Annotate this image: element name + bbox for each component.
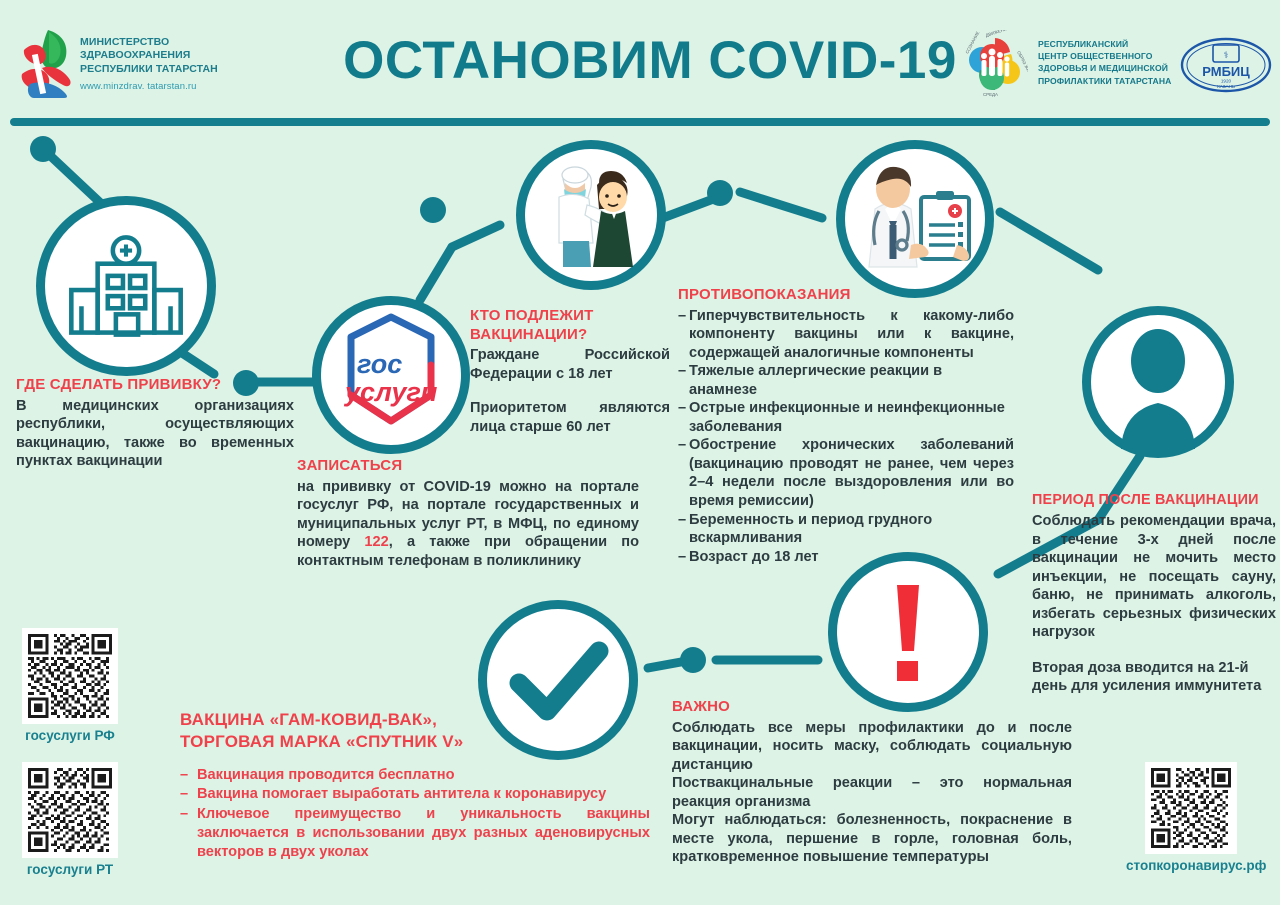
block-signup: ЗАПИСАТЬСЯ на прививку от COVID-19 можно… bbox=[297, 457, 639, 570]
qr-label-gosuslugi-rf: госуслуги РФ bbox=[22, 728, 118, 743]
qr-block-stopkoronavirus[interactable]: стопкоронавирус.рф bbox=[1126, 762, 1256, 873]
where-body: В медицинских организациях республики, о… bbox=[16, 397, 294, 471]
block-important: ВАЖНО Соблюдать все меры профилактики до… bbox=[672, 698, 1072, 867]
where-heading: ГДЕ СДЕЛАТЬ ПРИВИВКУ? bbox=[16, 376, 294, 394]
contraindication-item: Беременность и период грудного вскармлив… bbox=[678, 511, 1014, 548]
contraindications-list: Гиперчувствительность к какому-либо комп… bbox=[678, 307, 1014, 566]
who-heading-line1: КТО ПОДЛЕЖИТ bbox=[470, 307, 670, 325]
signup-phone-number: 122 bbox=[364, 534, 388, 550]
vaccine-heading-line2: ТОРГОВАЯ МАРКА «СПУТНИК V» bbox=[180, 732, 650, 752]
block-who-is-eligible: КТО ПОДЛЕЖИТ ВАКЦИНАЦИИ? Граждане Россий… bbox=[470, 307, 670, 437]
block-contraindications: ПРОТИВОПОКАЗАНИЯ Гиперчувствительность к… bbox=[678, 286, 1014, 566]
qr-code-stopkoronavirus-icon[interactable] bbox=[1145, 762, 1237, 854]
block-after-vaccination: ПЕРИОД ПОСЛЕ ВАКЦИНАЦИИ Соблюдать рекоме… bbox=[1032, 492, 1276, 696]
contraindication-item: Острые инфекционные и неинфекционные заб… bbox=[678, 399, 1014, 436]
vaccine-heading-line1: ВАКЦИНА «ГАМ-КОВИД-ВАК», bbox=[180, 710, 650, 730]
contraindication-item: Тяжелые аллергические реакции в анамнезе bbox=[678, 362, 1014, 399]
vaccine-benefits-list: Вакцинация проводится бесплатно Вакцина … bbox=[180, 766, 650, 862]
important-body-reactions: Поствакцинальные реакции – это нормальна… bbox=[672, 774, 1072, 811]
qr-code-gosuslugi-rt-icon[interactable] bbox=[22, 762, 118, 858]
block-where-to-vaccinate: ГДЕ СДЕЛАТЬ ПРИВИВКУ? В медицинских орга… bbox=[16, 376, 294, 471]
contraindication-item: Обострение хронических заболеваний (вакц… bbox=[678, 436, 1014, 510]
block-vaccine: ВАКЦИНА «ГАМ-КОВИД-ВАК», ТОРГОВАЯ МАРКА … bbox=[180, 710, 650, 862]
qr-code-gosuslugi-rf-icon[interactable] bbox=[22, 628, 118, 724]
contraindications-heading: ПРОТИВОПОКАЗАНИЯ bbox=[678, 286, 1014, 304]
after-heading: ПЕРИОД ПОСЛЕ ВАКЦИНАЦИИ bbox=[1032, 492, 1276, 509]
contraindication-item: Гиперчувствительность к какому-либо комп… bbox=[678, 307, 1014, 363]
signup-heading: ЗАПИСАТЬСЯ bbox=[297, 457, 639, 475]
vaccine-benefit-item: Вакцинация проводится бесплатно bbox=[180, 766, 650, 785]
vaccine-benefit-item: Вакцина помогает выработать антитела к к… bbox=[180, 785, 650, 804]
signup-body: на прививку от COVID-19 можно на портале… bbox=[297, 478, 639, 571]
infographic-poster: МИНИСТЕРСТВО ЗДРАВООХРАНЕНИЯ РЕСПУБЛИКИ … bbox=[0, 0, 1280, 905]
qr-label-gosuslugi-rt: госуслуги РТ bbox=[22, 862, 118, 877]
contraindication-item: Возраст до 18 лет bbox=[678, 548, 1014, 567]
who-body-priority: Приоритетом являются лица старше 60 лет bbox=[470, 399, 670, 436]
qr-block-gosuslugi-rf[interactable]: госуслуги РФ bbox=[22, 628, 118, 743]
important-body-prevention: Соблюдать все меры профилактики до и пос… bbox=[672, 719, 1072, 775]
who-heading-line2: ВАКЦИНАЦИИ? bbox=[470, 326, 670, 344]
content-layer: ГДЕ СДЕЛАТЬ ПРИВИВКУ? В медицинских орга… bbox=[0, 0, 1280, 905]
qr-block-gosuslugi-rt[interactable]: госуслуги РТ bbox=[22, 762, 118, 877]
qr-label-stopkoronavirus: стопкоронавирус.рф bbox=[1126, 858, 1256, 873]
after-body-second-dose: Вторая доза вводится на 21-й день для ус… bbox=[1032, 659, 1276, 696]
who-body-citizens: Граждане Российской Федерации с 18 лет bbox=[470, 346, 670, 383]
after-body-recommendations: Соблюдать рекомендации врача, в течение … bbox=[1032, 512, 1276, 642]
important-body-symptoms: Могут наблюдаться: болезненность, покрас… bbox=[672, 811, 1072, 867]
important-heading: ВАЖНО bbox=[672, 698, 1072, 716]
vaccine-benefit-item: Ключевое преимущество и уникальность вак… bbox=[180, 805, 650, 863]
